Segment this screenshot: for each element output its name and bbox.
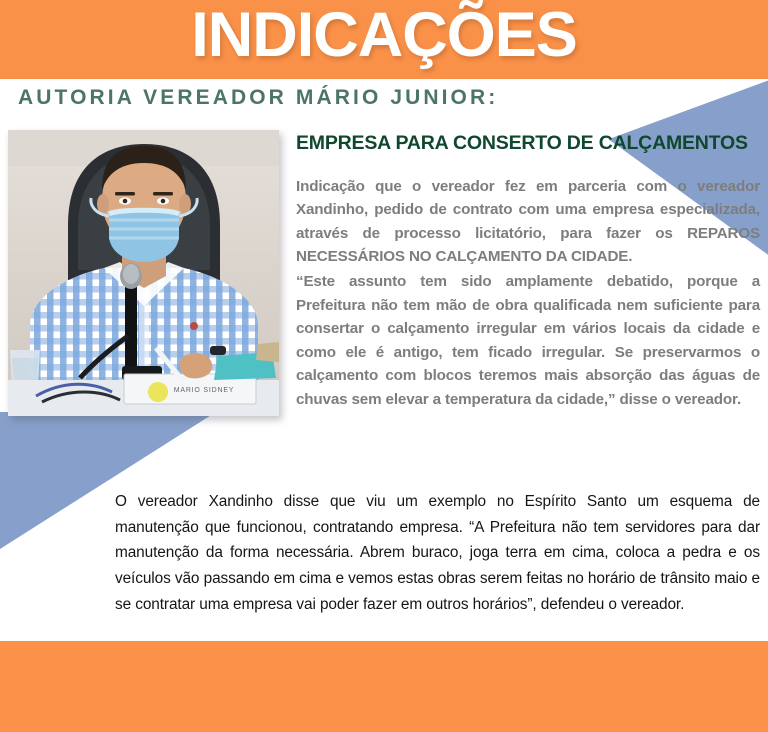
author-subtitle: AUTORIA VEREADOR MÁRIO JUNIOR: <box>18 86 498 110</box>
svg-text:MARIO SIDNEY: MARIO SIDNEY <box>174 387 235 394</box>
article-paragraph-1: Indicação que o vereador fez em parceria… <box>296 175 760 269</box>
article-right-column: EMPRESA PARA CONSERTO DE CALÇAMENTOS Ind… <box>296 130 760 411</box>
poster-canvas: INDICAÇÕES AUTORIA VEREADOR MÁRIO JUNIOR… <box>0 0 768 732</box>
vereador-photo: MARIO SIDNEY <box>8 130 279 416</box>
page-title: INDICAÇÕES <box>0 4 768 67</box>
article-paragraph-3: O vereador Xandinho disse que viu um exe… <box>115 489 760 618</box>
article-paragraph-2: “Este assunto tem sido amplamente debati… <box>296 270 760 411</box>
bottom-orange-band <box>0 641 768 732</box>
article-heading: EMPRESA PARA CONSERTO DE CALÇAMENTOS <box>296 130 760 158</box>
